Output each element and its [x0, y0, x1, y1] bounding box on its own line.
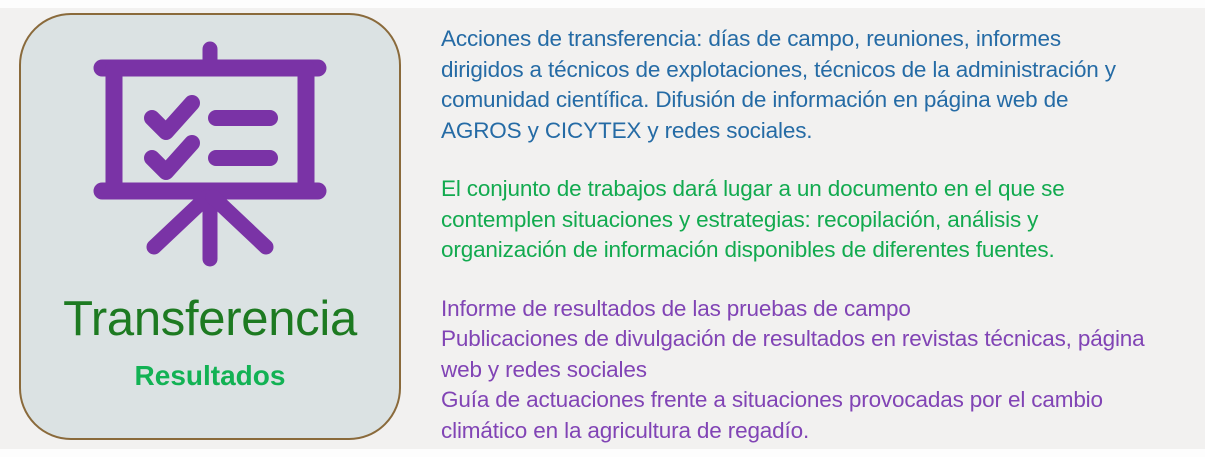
paragraph-line: Informe de resultados de las pruebas de … — [441, 294, 1186, 325]
paragraph-deliverables: Informe de resultados de las pruebas de … — [441, 294, 1186, 447]
paragraph-expected-document: El conjunto de trabajos dará lugar a un … — [441, 174, 1186, 266]
paragraph-line: Guía de actuaciones frente a situaciones… — [441, 385, 1186, 416]
paragraph-line: Acciones de transferencia: días de campo… — [441, 24, 1186, 55]
paragraph-line: AGROS y CICYTEX y redes sociales. — [441, 116, 1186, 147]
bottom-edge-strip — [0, 449, 1205, 457]
paragraph-transfer-actions: Acciones de transferencia: días de campo… — [441, 24, 1186, 146]
presentation-board-checklist-icon — [92, 39, 328, 271]
paragraph-line: comunidad científica. Difusión de inform… — [441, 85, 1186, 116]
card-subtitle: Resultados — [135, 362, 286, 390]
slide-canvas: Transferencia Resultados Acciones de tra… — [0, 0, 1205, 457]
top-edge-strip — [0, 0, 1205, 8]
paragraph-line: El conjunto de trabajos dará lugar a un … — [441, 174, 1186, 205]
paragraph-line: organización de información disponibles … — [441, 235, 1186, 266]
paragraph-line: contemplen situaciones y estrategias: re… — [441, 205, 1186, 236]
paragraph-line: dirigidos a técnicos de explotaciones, t… — [441, 55, 1186, 86]
paragraph-line: Publicaciones de divulgación de resultad… — [441, 324, 1186, 355]
paragraph-line: climático en la agricultura de regadío. — [441, 416, 1186, 447]
transferencia-card: Transferencia Resultados — [19, 13, 401, 440]
description-text-column: Acciones de transferencia: días de campo… — [441, 24, 1186, 434]
card-title: Transferencia — [63, 295, 357, 344]
paragraph-line: web y redes sociales — [441, 355, 1186, 386]
